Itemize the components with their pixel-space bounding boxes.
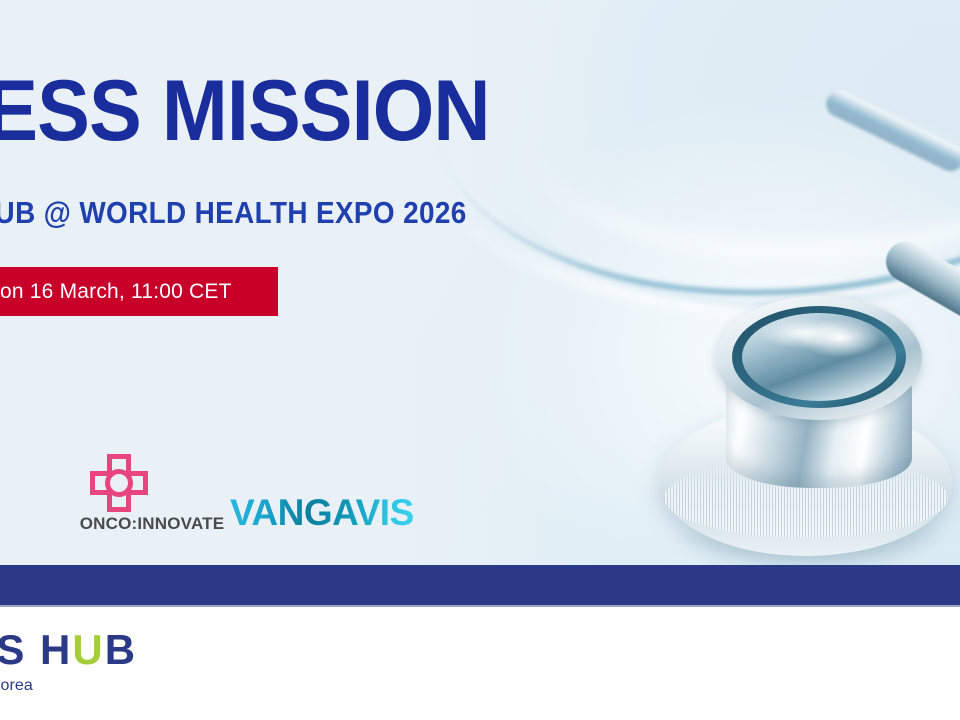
partner-logo-onco-innovate-label: ONCO:INNOVATE [44,514,260,534]
business-hub-wordmark: NESS HUB [0,629,137,671]
partner-logo-onco-innovate: ONCO:INNOVATE [44,454,260,534]
date-badge-text: on 16 March, 11:00 CET [0,280,232,304]
footer-section: NESS HUB Republic of Korea ★★★★★★★★★★★★ … [0,607,960,720]
business-hub-logo: NESS HUB Republic of Korea [0,629,137,695]
hero-section: INESS MISSION SS HUB @ WORLD HEALTH EXPO… [0,0,960,565]
partner-logo-vangavis: VANGAVIS [230,492,414,534]
cross-circle-icon [90,454,148,512]
cross-center-circle [105,469,133,497]
business-hub-word-after: B [105,626,137,673]
tubing-stem [822,86,960,175]
chestpiece-highlight [758,318,850,348]
hero-subtitle: SS HUB @ WORLD HEALTH EXPO 2026 [0,197,467,228]
date-badge: on 16 March, 11:00 CET [0,267,278,316]
business-hub-tagline: Republic of Korea [0,677,137,695]
stethoscope-chestpiece [630,282,960,554]
navy-divider-bar [0,565,960,606]
page-title: INESS MISSION [0,68,490,154]
partner-logo-row: LS ONCO:INNOVATE VANGAVIS [0,448,640,548]
event-banner: INESS MISSION SS HUB @ WORLD HEALTH EXPO… [0,0,960,720]
business-hub-word-before: NESS H [0,626,72,673]
business-hub-word-u: U [72,626,104,673]
